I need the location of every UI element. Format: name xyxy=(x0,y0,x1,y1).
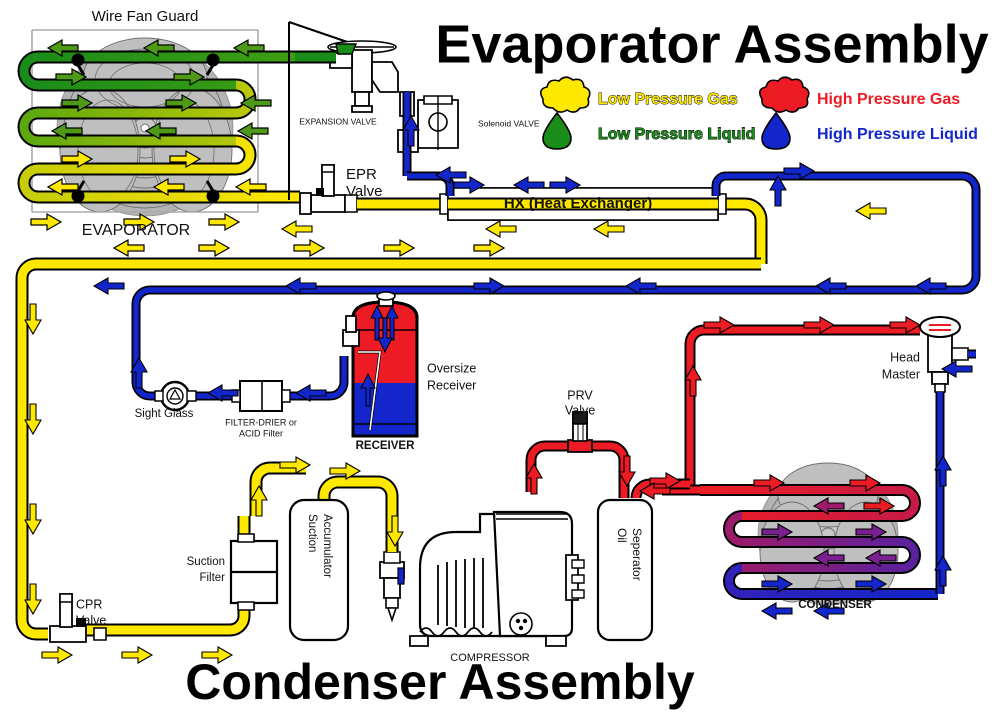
receiver-label: RECEIVER xyxy=(356,440,415,452)
sight-glass xyxy=(155,382,196,410)
hp-gas-discharge-line xyxy=(662,330,920,490)
filter-drier xyxy=(232,381,290,411)
legend-label-2: High Pressure Gas xyxy=(817,91,960,108)
condenser-label: CONDENSER xyxy=(798,599,872,611)
suction-filter-label-line2: Filter xyxy=(199,572,225,584)
epr-valve-label-line2: Valve xyxy=(346,183,382,200)
legend-item-0: Low Pressure Gas xyxy=(541,77,738,112)
legend-label-3: High Pressure Liquid xyxy=(817,126,978,143)
suction-accumulator-label-line1: Suction xyxy=(306,514,318,552)
prv-valve xyxy=(568,412,592,452)
head-master-label-line1: Head xyxy=(890,350,920,364)
filter-drier-label-line1: FILTER-DRIER or xyxy=(225,417,297,427)
cpr-valve-label-line2: Valve xyxy=(76,613,106,627)
legend-item-3: High Pressure Liquid xyxy=(762,113,978,149)
cloud-icon xyxy=(760,77,809,112)
head-master-valve xyxy=(920,317,968,392)
legend-label-0: Low Pressure Gas xyxy=(598,91,738,108)
compressor-suction-valve xyxy=(380,552,404,620)
epr-valve-label-line1: EPR xyxy=(346,166,377,183)
evaporator-fan xyxy=(57,38,233,216)
heat-exchanger-label: HX (Heat Exchanger) xyxy=(504,195,652,212)
evaporator-label: EVAPORATOR xyxy=(82,222,190,239)
oversize-receiver-label-line1: Oversize xyxy=(427,361,476,375)
top-title: Evaporator Assembly xyxy=(435,14,988,74)
refrigeration-diagram-canvas: Wire Fan Guard xyxy=(0,0,1000,719)
prv-valve-label-line1: PRV xyxy=(567,388,593,402)
oil-separator-label-line1: Oil xyxy=(615,528,629,543)
droplet-icon xyxy=(762,113,790,149)
prv-valve-label-line2: Valve xyxy=(565,403,595,417)
legend-item-2: High Pressure Gas xyxy=(760,77,961,112)
system-schematic: Wire Fan Guard xyxy=(0,0,1000,719)
compressor-discharge-line xyxy=(531,446,624,498)
oversize-receiver-label-line2: Receiver xyxy=(427,378,476,392)
bottom-title: Condenser Assembly xyxy=(185,654,695,710)
compressor xyxy=(410,512,584,646)
suction-accumulator-label-line2: Accumulator xyxy=(321,514,333,578)
legend-item-1: Low Pressure Liquid xyxy=(543,113,755,149)
cpr-valve-label-line1: CPR xyxy=(76,597,102,611)
oil-separator-label-line2: Seperator xyxy=(630,528,644,581)
sight-glass-label: Sight Glass xyxy=(135,408,194,420)
legend: Low Pressure Gas Low Pressure Liquid Hig… xyxy=(541,77,978,149)
suction-accumulator xyxy=(290,500,348,640)
legend-label-1: Low Pressure Liquid xyxy=(598,126,755,143)
suction-filter-label-line1: Suction xyxy=(187,556,225,568)
filter-drier-label-line2: ACID Filter xyxy=(239,428,283,438)
cloud-icon xyxy=(541,77,590,112)
expansion-valve xyxy=(328,41,398,112)
expansion-valve-label: EXPANSION VALVE xyxy=(299,116,377,126)
head-master-label-line2: Master xyxy=(882,367,920,381)
suction-filter xyxy=(231,534,277,610)
suction-return-right xyxy=(745,204,761,264)
droplet-icon xyxy=(543,113,571,149)
wire-fan-guard-label: Wire Fan Guard xyxy=(92,8,199,25)
solenoid-valve-label: Solenoid VALVE xyxy=(478,118,540,128)
